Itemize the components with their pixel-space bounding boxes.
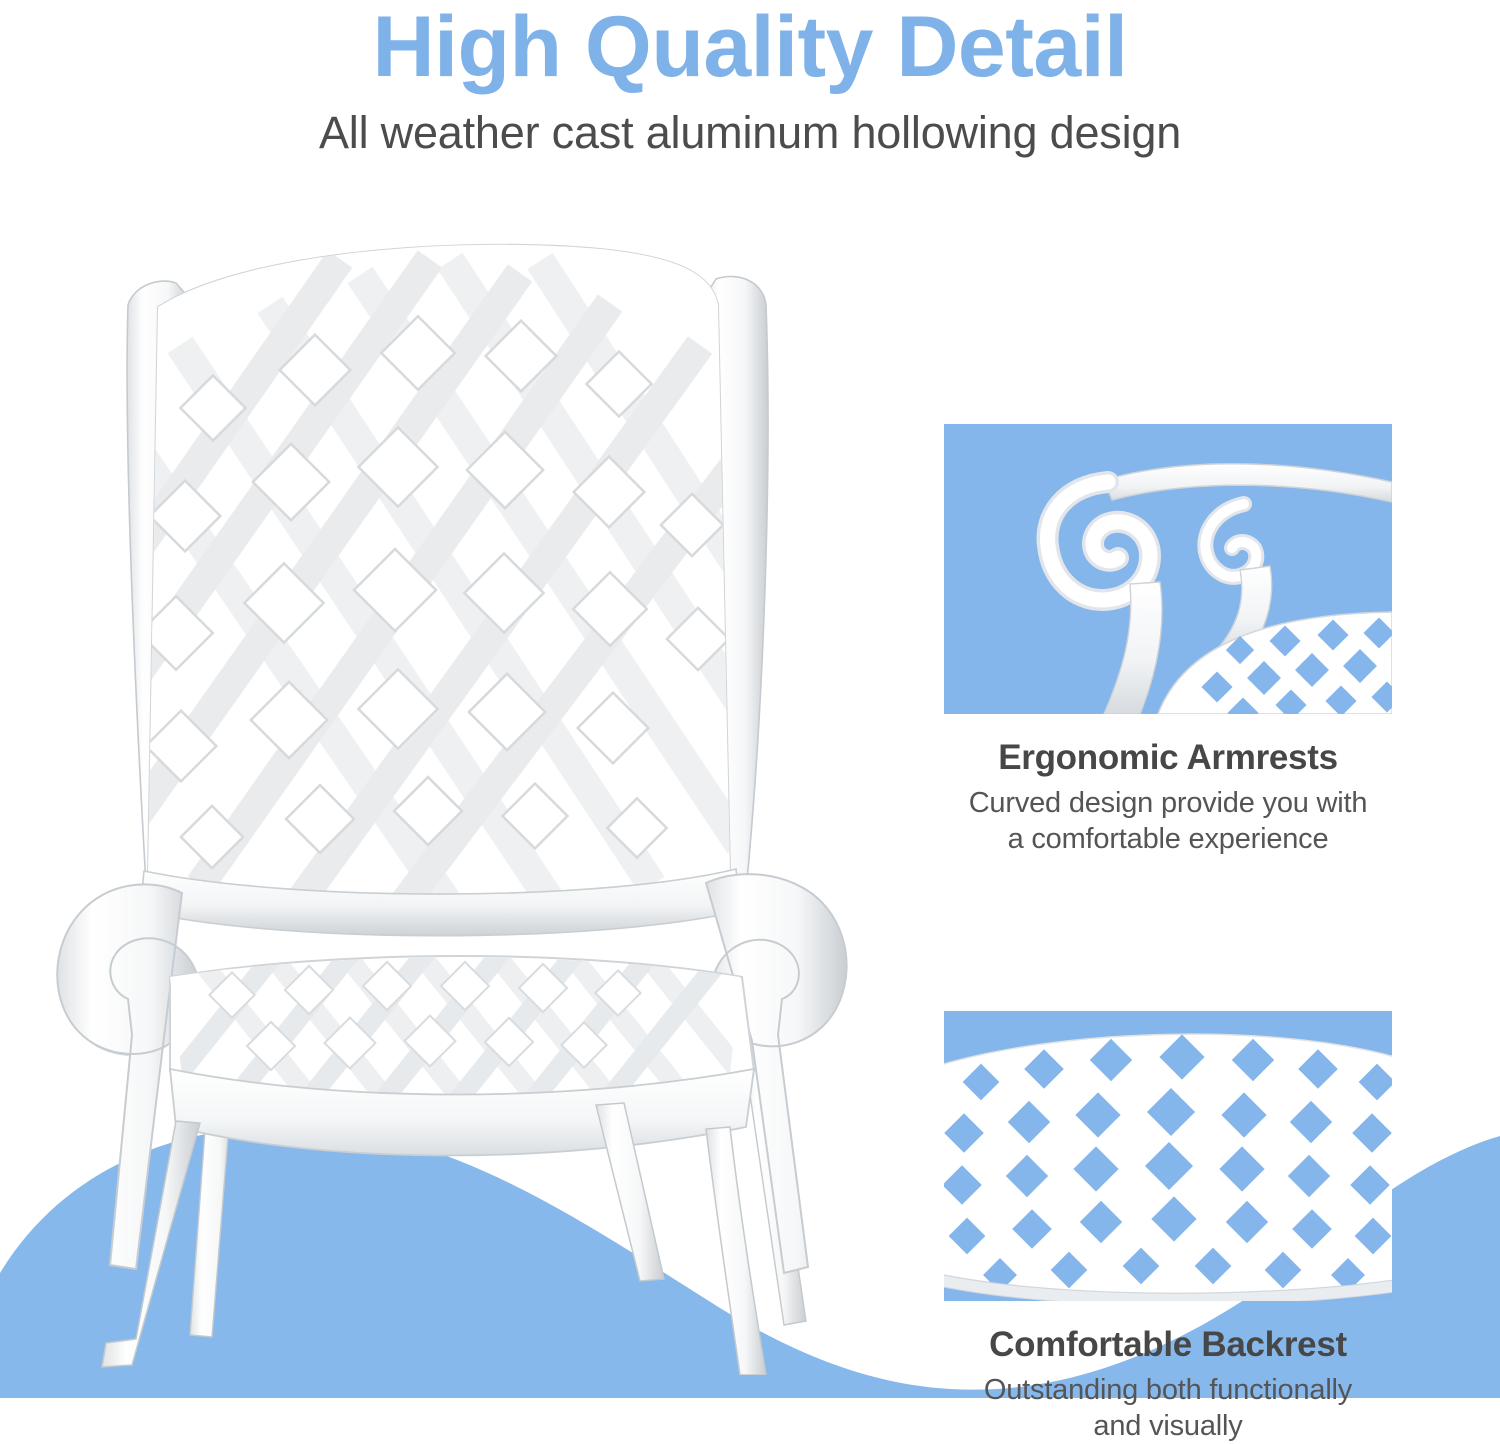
page-title: High Quality Detail <box>0 0 1500 92</box>
feature-description-line: Curved design provide you with <box>944 786 1392 821</box>
page-subtitle: All weather cast aluminum hollowing desi… <box>0 92 1500 158</box>
armrest-detail-image <box>944 424 1392 714</box>
chair-backrest <box>50 235 840 936</box>
feature-title: Ergonomic Armrests <box>944 738 1392 777</box>
feature-description-line: a comfortable experience <box>944 822 1392 857</box>
feature-card-backrest: Comfortable Backrest Outstanding both fu… <box>944 1011 1392 1444</box>
feature-description: Curved design provide you with a comfort… <box>944 777 1392 857</box>
main-product-image <box>40 235 920 1375</box>
feature-title: Comfortable Backrest <box>944 1325 1392 1364</box>
backrest-detail-image <box>944 1011 1392 1301</box>
header-banner: High Quality Detail All weather cast alu… <box>0 0 1500 200</box>
chair-seat <box>130 935 790 1156</box>
feature-description-line: Outstanding both functionally <box>944 1373 1392 1408</box>
feature-description: Outstanding both functionally and visual… <box>944 1364 1392 1444</box>
feature-card-armrests: Ergonomic Armrests Curved design provide… <box>944 424 1392 857</box>
feature-list: Ergonomic Armrests Curved design provide… <box>944 424 1392 1444</box>
feature-description-line: and visually <box>944 1409 1392 1444</box>
